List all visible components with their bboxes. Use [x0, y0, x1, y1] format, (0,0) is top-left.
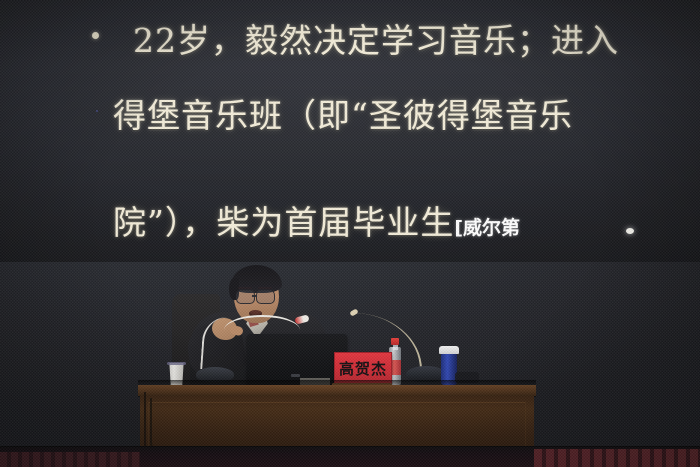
- water-bottle-cap: [391, 338, 399, 345]
- slide-line-3-text: 院”），柴为首届毕业生: [113, 203, 454, 242]
- lecture-hall-photo: 22岁，毅然决定学习音乐；进入 得堡音乐班（即“圣彼得堡音乐 院”），柴为首届毕…: [0, 0, 700, 467]
- slide-bullet-icon: [92, 32, 99, 39]
- ceiling-light-reflection-icon: [626, 228, 634, 234]
- slide-citation: [威尔第: [454, 217, 520, 239]
- slide-line-1: 22岁，毅然决定学习音乐；进入: [133, 14, 619, 62]
- microphone-arc-left: [224, 315, 300, 341]
- glasses-bridge-icon: [252, 295, 257, 297]
- slide-line-2: 得堡音乐班（即“圣彼得堡音乐: [113, 89, 573, 137]
- name-plate-text: 高贺杰: [339, 362, 387, 377]
- slide-line-3: 院”），柴为首届毕业生[威尔第: [113, 196, 520, 244]
- audience-seats-left: [0, 452, 140, 467]
- travel-mug-lid: [439, 346, 459, 354]
- presentation-slide: 22岁，毅然决定学习音乐；进入 得堡音乐班（即“圣彼得堡音乐 院”），柴为首届毕…: [0, 0, 700, 262]
- paper-cup-rim: [167, 362, 186, 365]
- audience-seats-right: [534, 449, 700, 467]
- desk-top-surface: [138, 385, 536, 396]
- laptop: [247, 334, 347, 386]
- glasses-lens-left-icon: [236, 290, 255, 304]
- stray-pixel-artifact: [96, 110, 98, 112]
- glasses-lens-right-icon: [256, 290, 275, 304]
